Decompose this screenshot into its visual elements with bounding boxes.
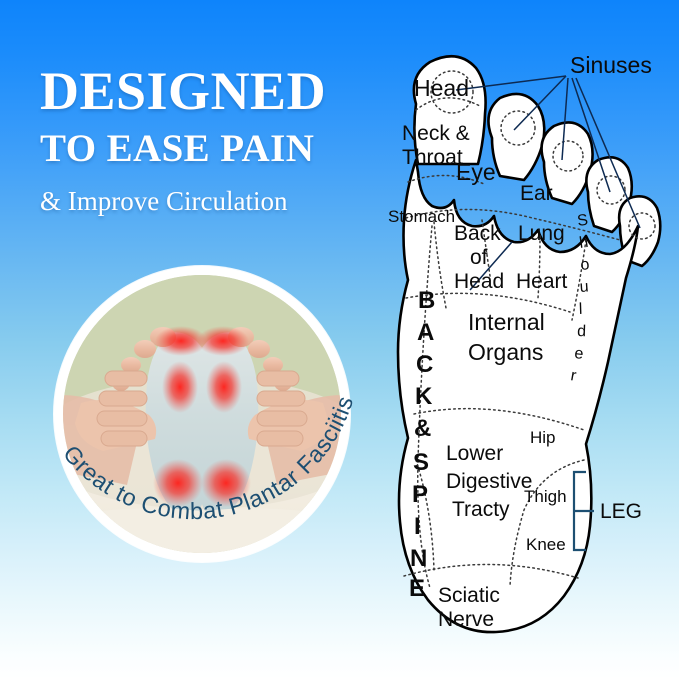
label-internal-organs-1: Internal (468, 309, 545, 335)
svg-text:I: I (414, 513, 421, 540)
label-back-of-head-1: Back (454, 222, 501, 245)
svg-text:e: e (574, 345, 585, 363)
label-knee: Knee (526, 535, 566, 554)
label-sciatic-1: Sciatic (438, 584, 500, 607)
label-leg: LEG (600, 500, 642, 523)
headline-line-3: & Improve Circulation (40, 188, 392, 215)
headline-block: DESIGNED TO EASE PAIN & Improve Circulat… (40, 64, 392, 215)
headline-line-2: TO EASE PAIN (40, 129, 392, 168)
label-head: Head (414, 75, 469, 101)
label-lower-digestive-2: Digestive (446, 470, 532, 493)
svg-text:B: B (418, 287, 435, 314)
label-back-of-head-3: Head (454, 270, 504, 293)
svg-text:l: l (579, 301, 583, 318)
label-stomach: Stomach (388, 207, 455, 226)
svg-text:C: C (416, 351, 433, 378)
label-lower-digestive-1: Lower (446, 442, 503, 465)
label-eye: Eye (456, 159, 496, 185)
photo-circle-frame (54, 266, 350, 562)
svg-text:E: E (409, 575, 425, 602)
svg-text:S: S (413, 449, 429, 476)
foot-reflexology-diagram: Head Neck & Throat Sinuses Eye Ear Stoma… (372, 40, 672, 655)
svg-text:o: o (580, 256, 591, 274)
headline-line-1: DESIGNED (40, 64, 392, 118)
svg-text:P: P (412, 481, 428, 508)
label-internal-organs-2: Organs (468, 339, 543, 365)
svg-text:N: N (410, 545, 427, 572)
svg-text:K: K (415, 383, 433, 410)
label-lower-digestive-3: Tracty (452, 498, 510, 521)
poster-canvas: DESIGNED TO EASE PAIN & Improve Circulat… (0, 0, 679, 679)
feet-photo-illustration (63, 275, 341, 553)
label-back-of-head-2: of (470, 246, 488, 269)
label-ear: Ear (520, 182, 553, 205)
feet-photo (63, 275, 341, 553)
svg-text:S: S (576, 212, 589, 230)
label-heart: Heart (516, 270, 568, 293)
svg-text:u: u (579, 278, 589, 296)
label-hip: Hip (530, 428, 556, 447)
label-neck-throat-line1: Neck & (402, 122, 470, 145)
svg-text:A: A (417, 319, 434, 346)
label-sciatic-2: Nerve (438, 608, 494, 631)
label-thigh: Thigh (524, 487, 567, 506)
label-sinuses: Sinuses (570, 52, 652, 78)
label-lung: Lung (518, 222, 565, 245)
label-neck-throat-line2: Throat (402, 146, 463, 169)
svg-text:&: & (414, 415, 431, 442)
svg-text:d: d (577, 323, 586, 340)
